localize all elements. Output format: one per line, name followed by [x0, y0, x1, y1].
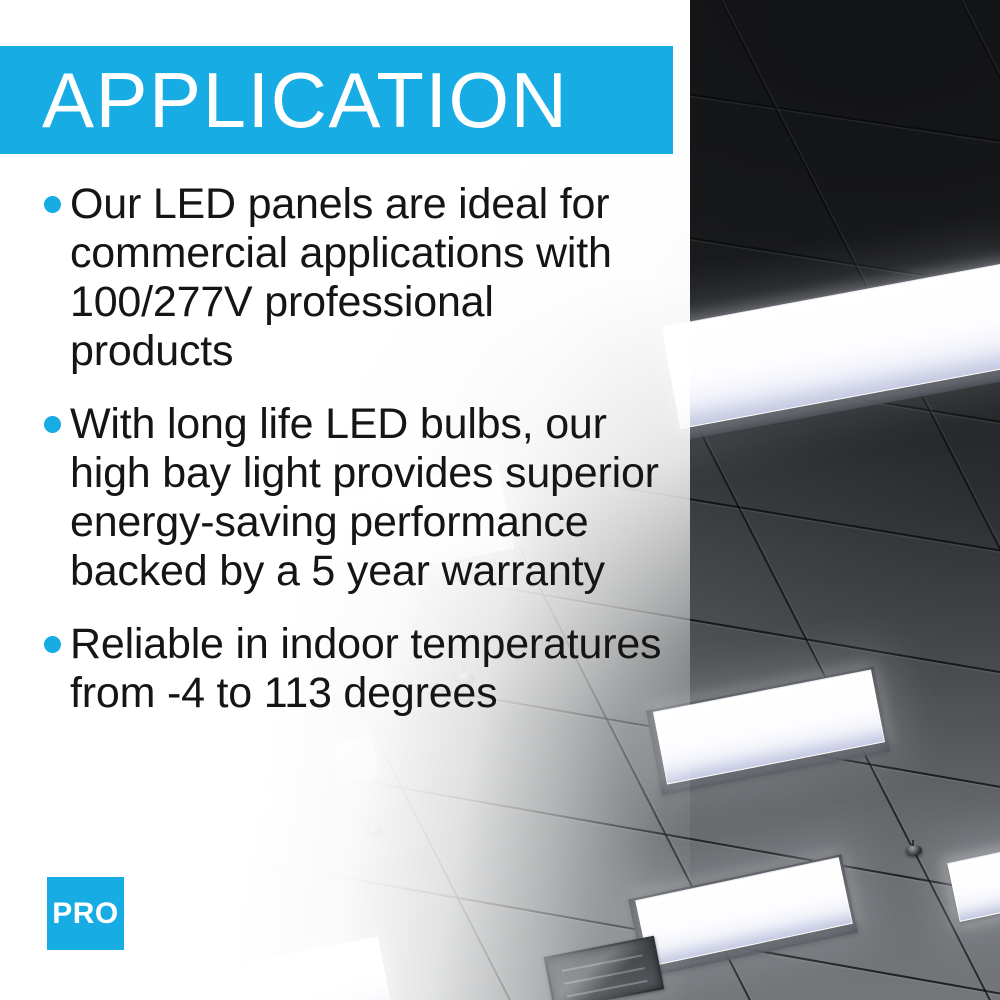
product-infographic: APPLICATION Our LED panels are ideal for… — [0, 0, 1000, 1000]
bullet-dot-icon — [44, 636, 61, 653]
list-item: Reliable in indoor temperatures from -4 … — [44, 620, 664, 718]
feature-bullet-list: Our LED panels are ideal for commercial … — [44, 180, 664, 742]
bullet-dot-icon — [44, 416, 61, 433]
bullet-text-energy-saving-warranty: With long life LED bulbs, our high bay l… — [70, 400, 664, 596]
pro-badge: PRO — [47, 877, 124, 950]
bullet-text-temperature-range: Reliable in indoor temperatures from -4 … — [70, 620, 664, 718]
pro-badge-label: PRO — [52, 899, 119, 929]
list-item: Our LED panels are ideal for commercial … — [44, 180, 664, 376]
bullet-text-commercial-applications: Our LED panels are ideal for commercial … — [70, 180, 664, 376]
application-header-banner: APPLICATION — [0, 46, 673, 154]
page-title: APPLICATION — [0, 61, 569, 139]
ceiling-sensor-2 — [906, 845, 922, 855]
bullet-dot-icon — [44, 196, 61, 213]
list-item: With long life LED bulbs, our high bay l… — [44, 400, 664, 596]
top-white-strip — [0, 0, 673, 47]
